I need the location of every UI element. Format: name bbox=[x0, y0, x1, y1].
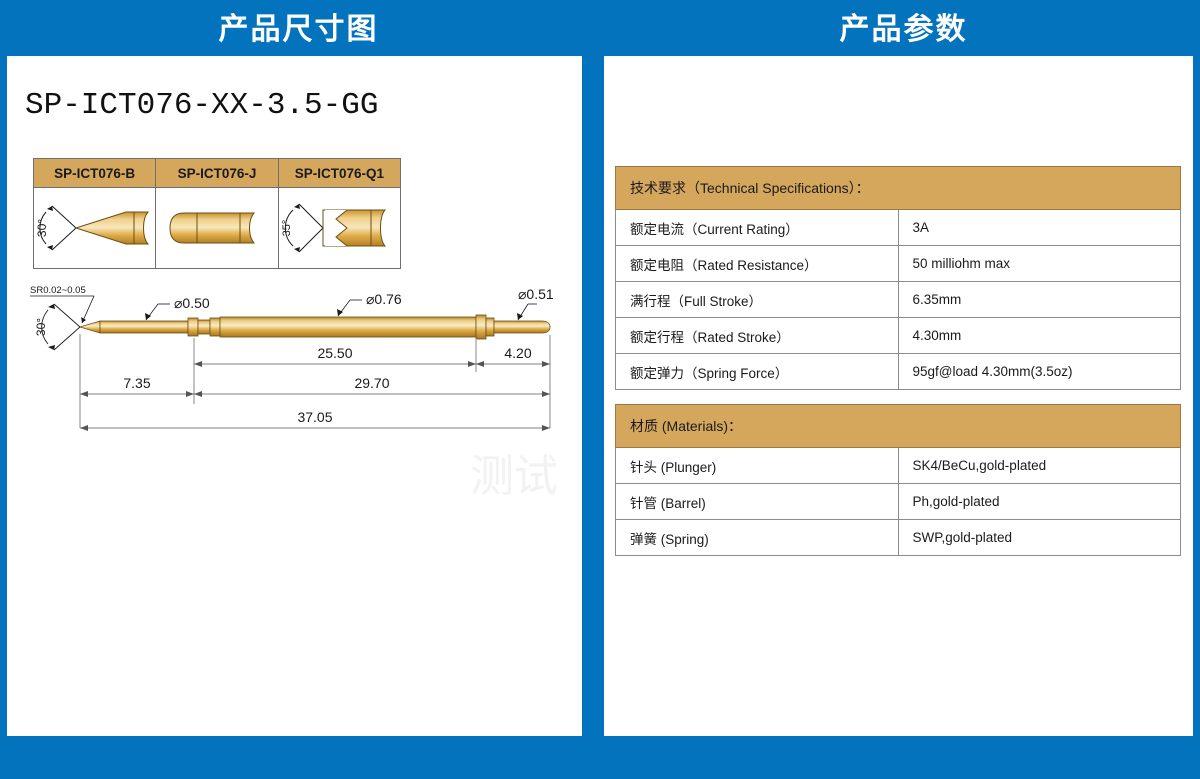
datasheet-page: 产品尺寸图 产品参数 SP-ICT076-XX-3.5-GG SP-ICT076… bbox=[0, 0, 1200, 779]
material-value-spring: SWP,gold-plated bbox=[898, 520, 1181, 556]
table-row: 针管 (Barrel) Ph,gold-plated bbox=[616, 484, 1181, 520]
crown-angle-label: 35° bbox=[281, 220, 293, 237]
variant-header-j: SP-ICT076-J bbox=[156, 159, 278, 188]
variant-header-q1: SP-ICT076-Q1 bbox=[278, 159, 400, 188]
variant-table: SP-ICT076-B SP-ICT076-J SP-ICT076-Q1 bbox=[33, 158, 401, 269]
dim-4-20: 4.20 bbox=[504, 345, 531, 361]
right-header-title: 产品参数 bbox=[840, 4, 968, 48]
spec-label-rated-resistance: 额定电阻（Rated Resistance） bbox=[616, 246, 899, 282]
left-header-title: 产品尺寸图 bbox=[219, 4, 379, 48]
dome-tip-icon bbox=[156, 188, 278, 268]
spec-label-rated-stroke: 额定行程（Rated Stroke） bbox=[616, 318, 899, 354]
crown-tip-icon: 35° bbox=[279, 188, 401, 268]
right-panel-header: 产品参数 bbox=[607, 0, 1200, 52]
spec-label-full-stroke: 满行程（Full Stroke） bbox=[616, 282, 899, 318]
watermark: 测试 bbox=[470, 455, 580, 545]
material-value-barrel: Ph,gold-plated bbox=[898, 484, 1181, 520]
materials-title: 材质 (Materials)： bbox=[616, 405, 1181, 448]
table-row: 额定弹力（Spring Force） 95gf@load 4.30mm(3.5o… bbox=[616, 354, 1181, 390]
material-label-spring: 弹簧 (Spring) bbox=[616, 520, 899, 556]
spec-value-rated-resistance: 50 milliohm max bbox=[898, 246, 1181, 282]
tech-spec-header-row: 技术要求（Technical Specifications）： bbox=[616, 167, 1181, 210]
tip-cell-cone: 30° bbox=[34, 188, 156, 269]
table-row: 额定行程（Rated Stroke） 4.30mm bbox=[616, 318, 1181, 354]
variant-header-row: SP-ICT076-B SP-ICT076-J SP-ICT076-Q1 bbox=[34, 159, 401, 188]
barrel-diameter-label: ⌀0.76 bbox=[366, 291, 402, 307]
spec-value-current-rating: 3A bbox=[898, 210, 1181, 246]
dim-25-50: 25.50 bbox=[317, 345, 352, 361]
cone-angle-label: 30° bbox=[35, 219, 49, 237]
variant-tip-row: 30° bbox=[34, 188, 401, 269]
material-label-plunger: 针头 (Plunger) bbox=[616, 448, 899, 484]
specifications-panel bbox=[604, 56, 1193, 736]
spec-label-spring-force: 额定弹力（Spring Force） bbox=[616, 354, 899, 390]
table-row: 针头 (Plunger) SK4/BeCu,gold-plated bbox=[616, 448, 1181, 484]
materials-header-row: 材质 (Materials)： bbox=[616, 405, 1181, 448]
table-row: 满行程（Full Stroke） 6.35mm bbox=[616, 282, 1181, 318]
plunger-diameter-label: ⌀0.50 bbox=[174, 295, 210, 311]
dim-29-70: 29.70 bbox=[354, 375, 389, 391]
dim-7-35: 7.35 bbox=[123, 375, 150, 391]
radius-note-label: SR0.02~0.05 bbox=[30, 285, 86, 296]
spec-value-rated-stroke: 4.30mm bbox=[898, 318, 1181, 354]
table-row: 额定电阻（Rated Resistance） 50 milliohm max bbox=[616, 246, 1181, 282]
tech-spec-title: 技术要求（Technical Specifications）： bbox=[616, 167, 1181, 210]
table-row: 额定电流（Current Rating） 3A bbox=[616, 210, 1181, 246]
material-value-plunger: SK4/BeCu,gold-plated bbox=[898, 448, 1181, 484]
dim-37-05: 37.05 bbox=[297, 409, 332, 425]
material-label-barrel: 针管 (Barrel) bbox=[616, 484, 899, 520]
variant-header-b: SP-ICT076-B bbox=[34, 159, 156, 188]
technical-specifications-table: 技术要求（Technical Specifications）： 额定电流（Cur… bbox=[615, 166, 1181, 390]
materials-table: 材质 (Materials)： 针头 (Plunger) SK4/BeCu,go… bbox=[615, 404, 1181, 556]
probe-dimension-drawing: 30° SR0.02~0.05 ⌀0.50 ⌀0.76 ⌀0.51 bbox=[18, 282, 568, 452]
left-panel-header: 产品尺寸图 bbox=[0, 0, 597, 52]
table-row: 弹簧 (Spring) SWP,gold-plated bbox=[616, 520, 1181, 556]
tip-angle-label: 30° bbox=[34, 318, 48, 336]
tip-cell-dome bbox=[156, 188, 278, 269]
spec-value-spring-force: 95gf@load 4.30mm(3.5oz) bbox=[898, 354, 1181, 390]
cone-tip-icon: 30° bbox=[34, 188, 156, 268]
spec-value-full-stroke: 6.35mm bbox=[898, 282, 1181, 318]
page-title: SP-ICT076-XX-3.5-GG bbox=[25, 88, 378, 123]
spec-label-current-rating: 额定电流（Current Rating） bbox=[616, 210, 899, 246]
tip-cell-crown: 35° bbox=[278, 188, 400, 269]
tail-diameter-label: ⌀0.51 bbox=[518, 286, 554, 302]
